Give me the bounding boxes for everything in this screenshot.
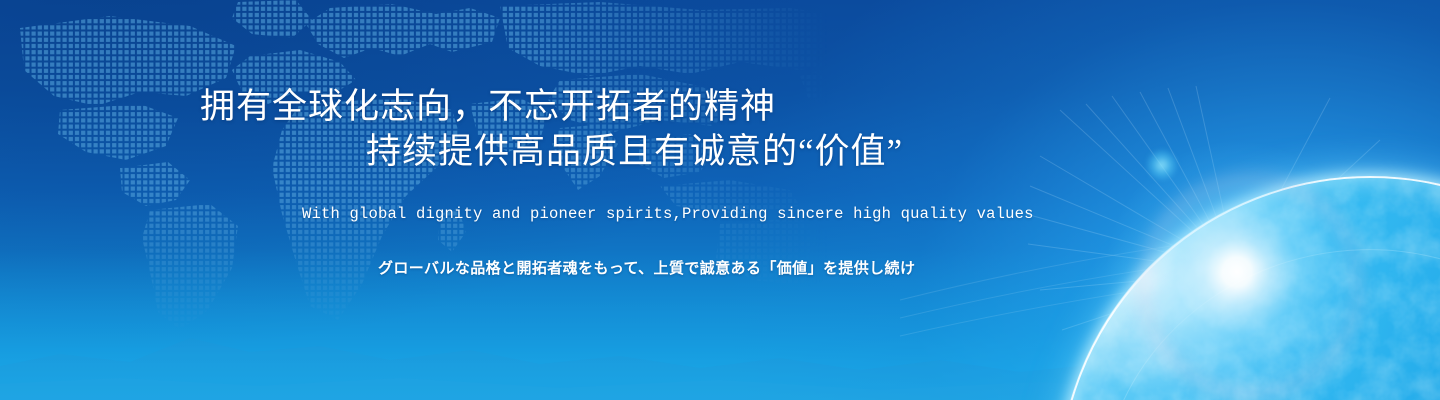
hero-banner: 拥有全球化志向，不忘开拓者的精神 持续提供高品质且有诚意的“价值” With g… (0, 0, 1440, 400)
subtitle-english: With global dignity and pioneer spirits,… (302, 207, 1034, 223)
headline-line-1: 拥有全球化志向，不忘开拓者的精神 (200, 89, 776, 124)
headline-line-2: 持续提供高品质且有诚意的“价值” (366, 134, 903, 169)
banner-copy: 拥有全球化志向，不忘开拓者的精神 持续提供高品质且有诚意的“价值” With g… (0, 0, 1440, 400)
subtitle-japanese: グローバルな品格と開拓者魂をもって、上質で誠意ある「価値」を提供し続け (378, 261, 915, 276)
